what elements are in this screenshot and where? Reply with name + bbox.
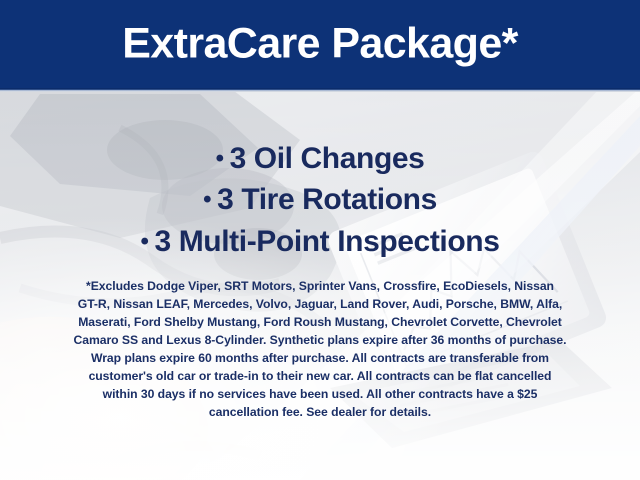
disclaimer-line: Camaro SS and Lexus 8-Cylinder. Syntheti… bbox=[30, 332, 610, 350]
benefit-label: 3 Tire Rotations bbox=[217, 183, 437, 216]
benefit-label: 3 Multi-Point Inspections bbox=[155, 225, 500, 258]
bullet-icon: • bbox=[216, 145, 224, 172]
benefits-list: •3 Oil Changes •3 Tire Rotations •3 Mult… bbox=[0, 138, 640, 262]
disclaimer-line: cancellation fee. See dealer for details… bbox=[30, 404, 610, 422]
disclaimer-line: *Excludes Dodge Viper, SRT Motors, Sprin… bbox=[30, 278, 610, 296]
header-divider bbox=[0, 88, 640, 92]
bullet-icon: • bbox=[140, 228, 148, 255]
list-item: •3 Multi-Point Inspections bbox=[0, 221, 640, 262]
disclaimer-line: Wrap plans expire 60 months after purcha… bbox=[30, 350, 610, 368]
list-item: •3 Tire Rotations bbox=[0, 179, 640, 220]
page-title: ExtraCare Package* bbox=[0, 23, 640, 66]
content-area: •3 Oil Changes •3 Tire Rotations •3 Mult… bbox=[0, 88, 640, 480]
disclaimer-line: within 30 days if no services have been … bbox=[30, 386, 610, 404]
extracare-package-ad: ExtraCare Package* •3 Oil Changes •3 Tir… bbox=[0, 0, 640, 480]
disclaimer-line: Maserati, Ford Shelby Mustang, Ford Rous… bbox=[30, 314, 610, 332]
bullet-icon: • bbox=[203, 186, 211, 213]
disclaimer-line: GT-R, Nissan LEAF, Mercedes, Volvo, Jagu… bbox=[30, 296, 610, 314]
disclaimer-text: *Excludes Dodge Viper, SRT Motors, Sprin… bbox=[30, 278, 610, 422]
list-item: •3 Oil Changes bbox=[0, 138, 640, 179]
disclaimer-line: customer's old car or trade-in to their … bbox=[30, 368, 610, 386]
header-bar: ExtraCare Package* bbox=[0, 0, 640, 88]
benefit-label: 3 Oil Changes bbox=[230, 142, 425, 175]
